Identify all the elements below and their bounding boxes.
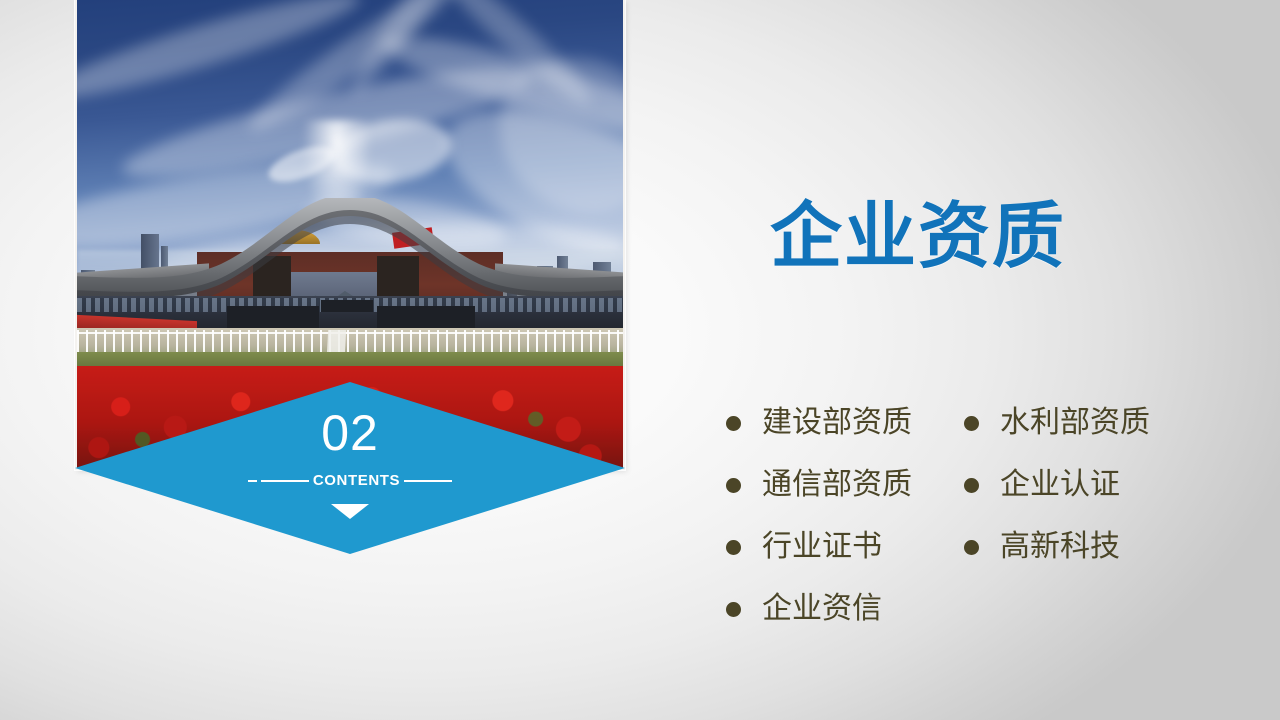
list-item[interactable]: 高新科技: [964, 516, 1214, 578]
bullet-dot-icon: [726, 416, 741, 431]
podium-block: [321, 300, 373, 312]
podium-block: [377, 306, 475, 330]
list-item-label: 高新科技: [1000, 532, 1120, 562]
bullet-dot-icon: [726, 540, 741, 555]
list-item[interactable]: 通信部资质: [726, 454, 964, 516]
bullet-dot-icon: [964, 540, 979, 555]
list-item[interactable]: 企业认证: [964, 454, 1214, 516]
list-item-label: 企业资信: [762, 594, 882, 624]
page-title: 企业资质: [770, 198, 1066, 277]
qualification-lists: 建设部资质 通信部资质 行业证书 企业资信 水利部资质 企业认证: [726, 392, 1246, 640]
list-item-label: 行业证书: [762, 532, 882, 562]
bullet-column-left: 建设部资质 通信部资质 行业证书 企业资信: [726, 392, 964, 640]
podium-block: [227, 306, 319, 330]
list-item-label: 建设部资质: [762, 408, 912, 438]
bullet-column-right: 水利部资质 企业认证 高新科技: [964, 392, 1214, 640]
white-fence: [77, 330, 623, 352]
list-item[interactable]: 行业证书: [726, 516, 964, 578]
list-item-label: 水利部资质: [1000, 408, 1150, 438]
list-item[interactable]: 企业资信: [726, 578, 964, 640]
list-item-label: 企业认证: [1000, 470, 1120, 500]
bullet-dot-icon: [726, 602, 741, 617]
bullet-dot-icon: [964, 478, 979, 493]
bullet-dot-icon: [726, 478, 741, 493]
presentation-slide: 02 CONTENTS 企业资质 建设部资质 通信部资质 行业证书: [0, 0, 1280, 720]
list-item[interactable]: 水利部资质: [964, 392, 1214, 454]
bullet-dot-icon: [964, 416, 979, 431]
list-item-label: 通信部资质: [762, 470, 912, 500]
list-item[interactable]: 建设部资质: [726, 392, 964, 454]
